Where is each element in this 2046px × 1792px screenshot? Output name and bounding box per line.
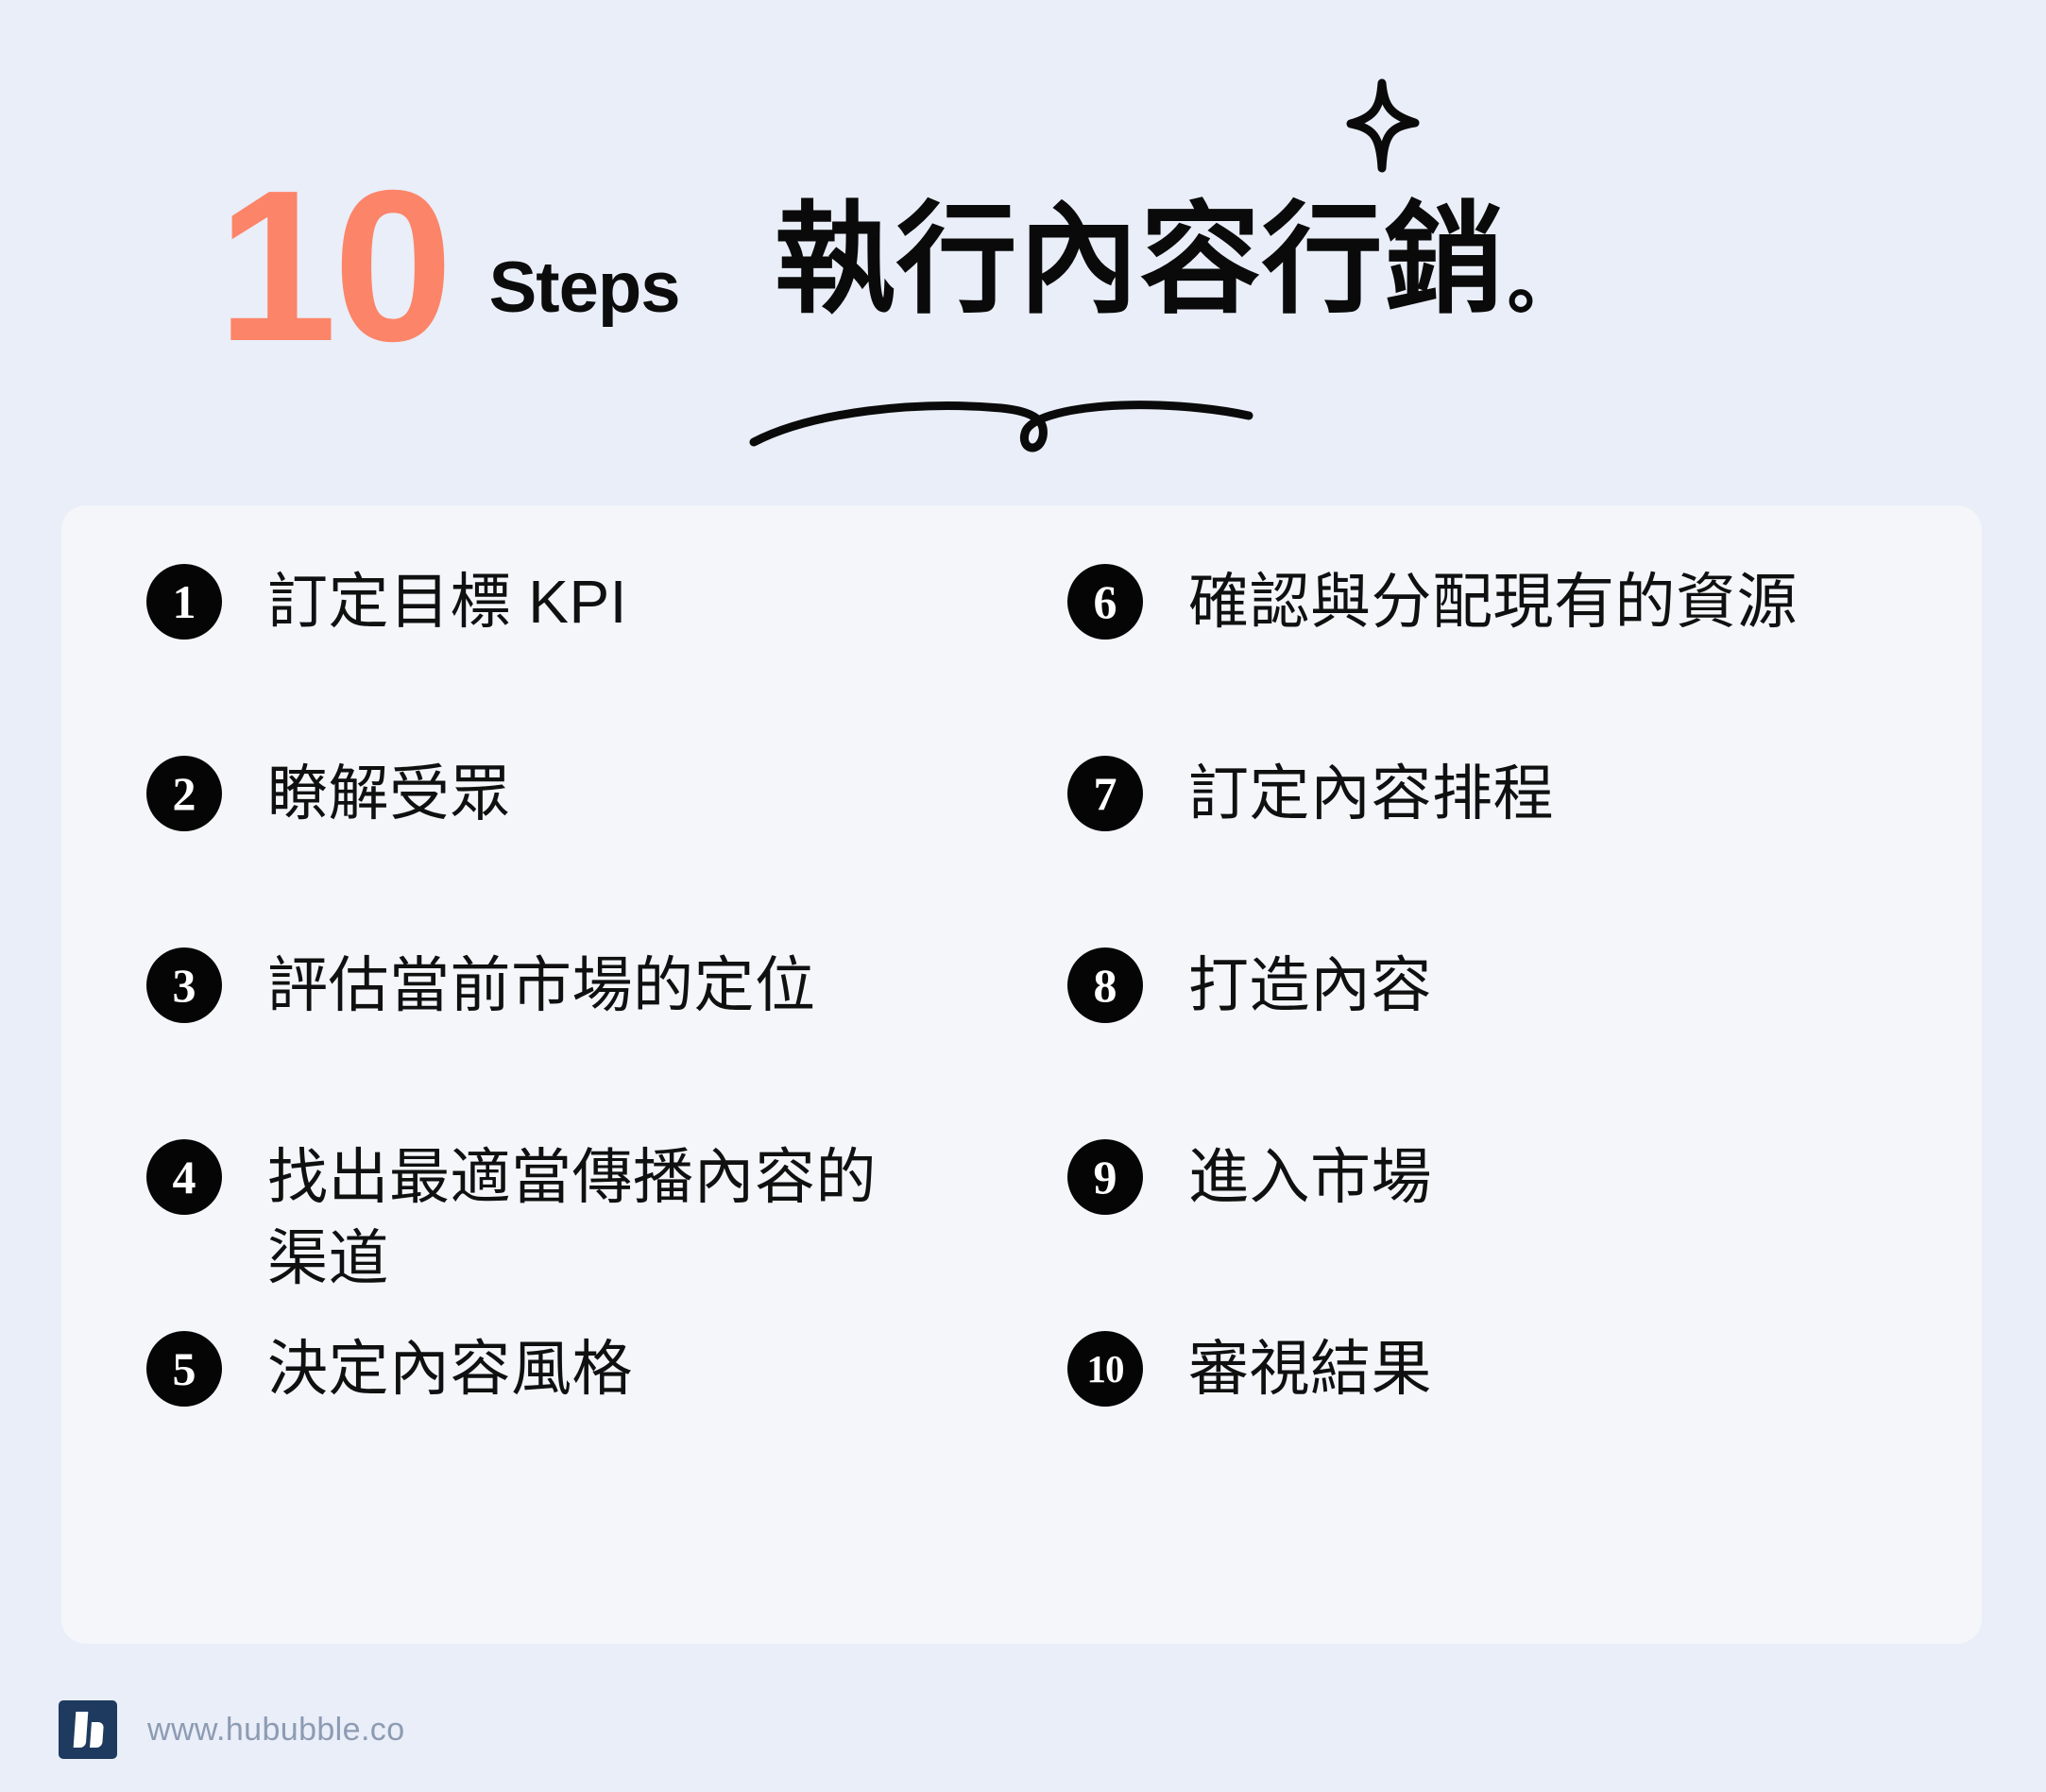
footer-url: www.hububble.co [147,1712,405,1749]
step-number-badge: 6 [1067,564,1143,640]
logo-stroke-left [74,1712,89,1748]
step-number-badge: 1 [146,564,222,640]
step-label: 訂定目標 KPI [267,562,627,643]
step-number-badge: 7 [1067,756,1143,831]
footer: www.hububble.co [59,1700,405,1759]
list-item[interactable]: 5 決定內容風格 [146,1329,633,1410]
sparkle-star-icon [1339,74,1424,178]
step-number-badge: 3 [146,947,222,1023]
step-label: 進入市場 [1188,1137,1432,1219]
list-item[interactable]: 2 瞭解受眾 [146,754,511,835]
list-item[interactable]: 4 找出最適當傳播內容的 渠道 [146,1137,877,1300]
step-number-badge: 2 [146,756,222,831]
list-item[interactable]: 6 確認與分配現有的資源 [1067,562,1798,643]
logo-stroke-right [90,1722,104,1748]
step-label: 決定內容風格 [267,1329,633,1410]
step-number-badge: 9 [1067,1139,1143,1215]
step-label: 評估當前市場的定位 [267,946,816,1027]
step-number-badge: 10 [1067,1331,1143,1407]
step-number-badge: 4 [146,1139,222,1215]
page-title: 執行內容行銷。 [775,162,1577,336]
hububble-logo-icon [59,1700,117,1759]
step-label: 確認與分配現有的資源 [1188,562,1798,643]
list-item[interactable]: 7 訂定內容排程 [1067,754,1554,835]
list-item[interactable]: 1 訂定目標 KPI [146,562,627,643]
step-label: 找出最適當傳播內容的 渠道 [267,1137,877,1300]
step-number-badge: 8 [1067,947,1143,1023]
steps-word: Steps [489,247,680,329]
step-label: 打造內容 [1188,946,1432,1027]
step-label: 審視結果 [1188,1329,1432,1410]
step-label: 訂定內容排程 [1188,754,1554,835]
list-item[interactable]: 8 打造內容 [1067,946,1432,1027]
step-number-badge: 5 [146,1331,222,1407]
steps-card: 1 訂定目標 KPI 2 瞭解受眾 3 評估當前市場的定位 4 找出最適當傳播內… [61,505,1982,1644]
list-item[interactable]: 3 評估當前市場的定位 [146,946,816,1027]
page-title-text: 執行內容行銷 [775,193,1506,328]
header: 10 Steps 執行內容行銷。 [0,0,2046,505]
step-label: 瞭解受眾 [267,754,511,835]
hand-drawn-underline-flourish [746,376,1256,480]
big-number-10: 10 [217,179,450,355]
list-item[interactable]: 10 審視結果 [1067,1329,1432,1410]
list-item[interactable]: 9 進入市場 [1067,1137,1432,1219]
page-title-end-mark: 。 [1508,244,1578,322]
